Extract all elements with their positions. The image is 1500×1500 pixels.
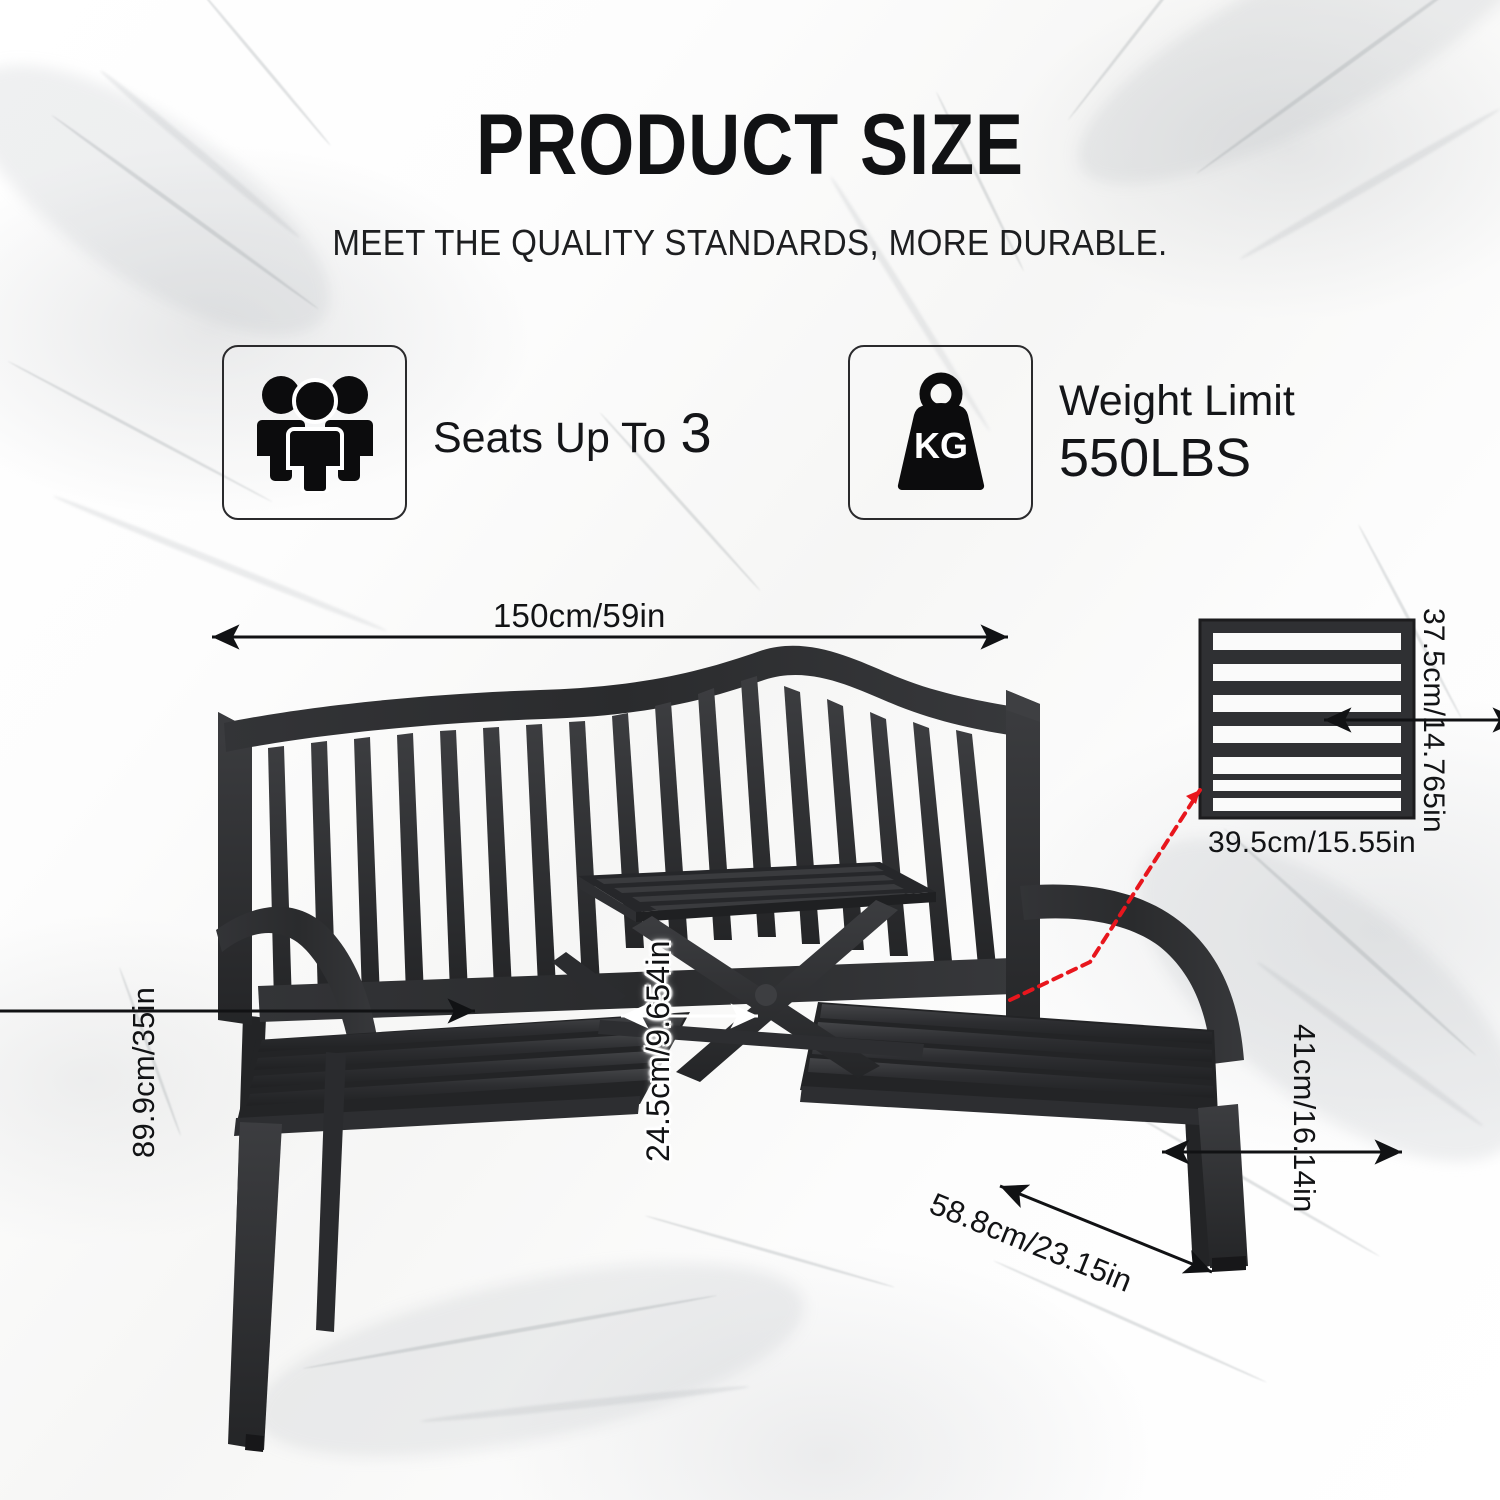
label-overall-height: 89.9cm/35in (126, 987, 162, 1158)
label-panel-width: 39.5cm/15.55in (1208, 826, 1416, 860)
backrest-left-post (218, 712, 252, 1025)
label-overall-width: 150cm/59in (493, 597, 666, 635)
label-table-height: 24.5cm/9.654in (640, 940, 677, 1162)
label-panel-height: 37.5cm/14.765in (1416, 608, 1450, 833)
label-seat-height: 41cm/16.14in (1286, 1024, 1322, 1213)
bench-illustration (0, 0, 1500, 1500)
product-size-infographic: PRODUCT SIZE MEET THE QUALITY STANDARDS,… (0, 0, 1500, 1500)
backrest-right-post (1006, 690, 1040, 1058)
bench-front-leg-left (228, 1122, 282, 1450)
bench-graphic (216, 646, 1248, 1452)
